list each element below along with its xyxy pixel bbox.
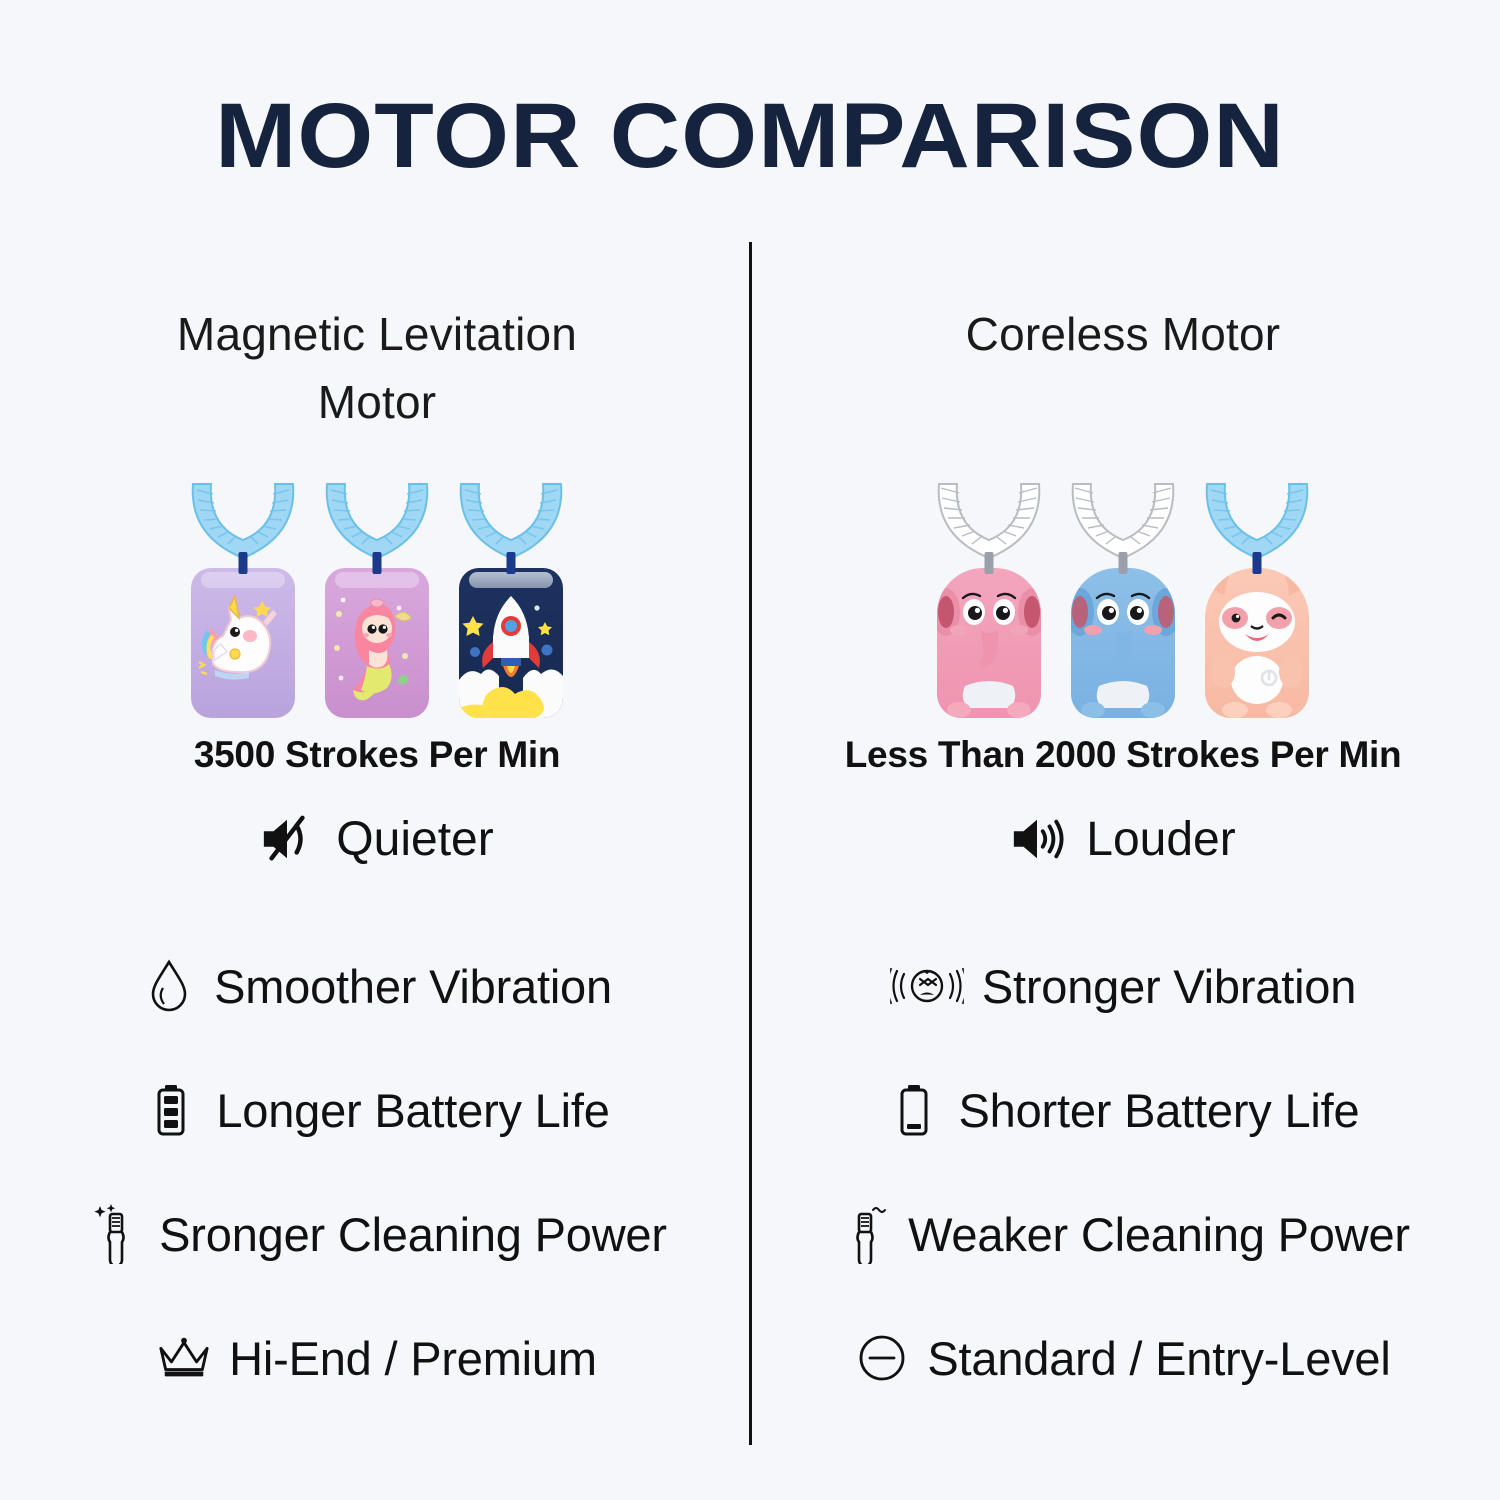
toothbrush-icon bbox=[836, 1205, 890, 1263]
feature-stronger-cleaning: Sronger Cleaning Power bbox=[12, 1172, 742, 1296]
feature-list-left: Smoother Vibration Longer Battery Life bbox=[12, 924, 742, 1420]
strokes-right: Less Than 2000 Strokes Per Min bbox=[758, 734, 1488, 776]
column-heading-left-line1: Magnetic Levitation bbox=[12, 300, 742, 368]
feature-shorter-battery: Shorter Battery Life bbox=[758, 1048, 1488, 1172]
noise-label-right: Louder bbox=[1086, 812, 1235, 867]
product-group-left bbox=[12, 468, 742, 718]
brush-neck bbox=[239, 552, 248, 574]
brush-neck bbox=[985, 552, 994, 574]
battery-full-icon bbox=[144, 1081, 198, 1139]
feature-label: Longer Battery Life bbox=[216, 1083, 609, 1138]
handle-body bbox=[1205, 568, 1309, 718]
speaker-loud-icon bbox=[1010, 810, 1064, 868]
column-heading-left-line2: Motor bbox=[12, 368, 742, 436]
column-heading-right: Coreless Motor bbox=[758, 300, 1488, 368]
feature-list-right: Stronger Vibration Shorter Battery Life bbox=[758, 924, 1488, 1420]
column-magnetic-levitation: Magnetic Levitation Motor bbox=[12, 300, 742, 1420]
noise-row-left: Quieter bbox=[12, 810, 742, 868]
speaker-mute-icon bbox=[260, 810, 314, 868]
column-coreless: Coreless Motor bbox=[758, 300, 1488, 1420]
noise-row-right: Louder bbox=[758, 810, 1488, 868]
page-title: MOTOR COMPARISON bbox=[0, 88, 1500, 185]
feature-smoother-vibration: Smoother Vibration bbox=[12, 924, 742, 1048]
feature-label: Standard / Entry-Level bbox=[927, 1331, 1390, 1386]
blue-elephant-toothbrush bbox=[1059, 478, 1187, 718]
handle-body bbox=[459, 568, 563, 718]
handle-lid bbox=[335, 572, 419, 588]
handle-body bbox=[937, 568, 1041, 718]
feature-hi-end: Hi-End / Premium bbox=[12, 1296, 742, 1420]
handle-lid bbox=[201, 572, 285, 588]
feature-label: Weaker Cleaning Power bbox=[908, 1207, 1410, 1262]
handle-body bbox=[1071, 568, 1175, 718]
mermaid-toothbrush bbox=[313, 478, 441, 718]
feature-label: Stronger Vibration bbox=[982, 959, 1356, 1014]
pink-elephant-artwork bbox=[937, 568, 1041, 718]
handle-body bbox=[191, 568, 295, 718]
crown-icon bbox=[157, 1329, 211, 1387]
water-drop-icon bbox=[142, 957, 196, 1015]
unicorn-toothbrush bbox=[179, 478, 307, 718]
feature-weaker-cleaning: Weaker Cleaning Power bbox=[758, 1172, 1488, 1296]
handle-body bbox=[325, 568, 429, 718]
shaking-face-icon bbox=[890, 957, 964, 1015]
product-group-right bbox=[758, 468, 1488, 718]
feature-standard: Standard / Entry-Level bbox=[758, 1296, 1488, 1420]
feature-label: Smoother Vibration bbox=[214, 959, 612, 1014]
feature-label: Sronger Cleaning Power bbox=[159, 1207, 667, 1262]
handle-lid bbox=[469, 572, 553, 588]
battery-low-icon bbox=[887, 1081, 941, 1139]
blue-elephant-artwork bbox=[1071, 568, 1175, 718]
brush-neck bbox=[1119, 552, 1128, 574]
rocket-artwork bbox=[459, 568, 563, 718]
toothbrush-sparkle-icon bbox=[87, 1205, 141, 1263]
feature-label: Shorter Battery Life bbox=[959, 1083, 1360, 1138]
peach-cat-toothbrush bbox=[1193, 478, 1321, 718]
noise-label-left: Quieter bbox=[336, 812, 493, 867]
mermaid-artwork bbox=[325, 568, 429, 718]
circle-minus-icon bbox=[855, 1329, 909, 1387]
column-divider bbox=[749, 242, 752, 1445]
feature-longer-battery: Longer Battery Life bbox=[12, 1048, 742, 1172]
brush-neck bbox=[1253, 552, 1262, 574]
strokes-left: 3500 Strokes Per Min bbox=[12, 734, 742, 776]
feature-label: Hi-End / Premium bbox=[229, 1331, 597, 1386]
unicorn-artwork bbox=[191, 568, 295, 718]
feature-stronger-vibration: Stronger Vibration bbox=[758, 924, 1488, 1048]
peach-cat-artwork bbox=[1205, 568, 1309, 718]
brush-neck bbox=[373, 552, 382, 574]
pink-elephant-toothbrush bbox=[925, 478, 1053, 718]
column-heading-left: Magnetic Levitation Motor bbox=[12, 300, 742, 436]
rocket-toothbrush bbox=[447, 478, 575, 718]
brush-neck bbox=[507, 552, 516, 574]
column-heading-right-line1: Coreless Motor bbox=[758, 300, 1488, 368]
